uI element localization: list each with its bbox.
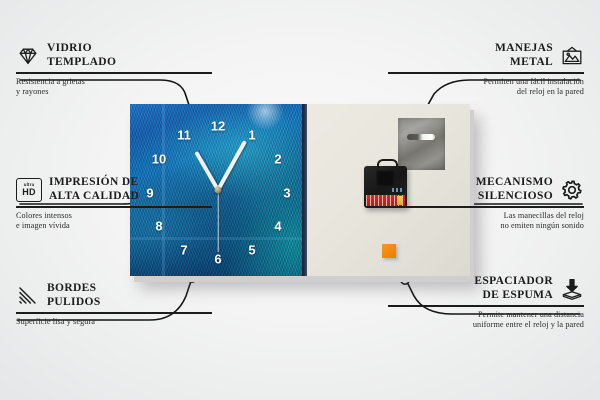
feature-foam-spacer: ESPACIADOR DE ESPUMA Permite mantener un… bbox=[388, 275, 584, 331]
feature-divider bbox=[16, 206, 212, 207]
infographic-canvas: 12 1 2 3 4 5 6 7 8 9 10 11 bbox=[0, 0, 600, 400]
feature-description: Colores intensos e imagen vívida bbox=[16, 211, 212, 233]
feature-divider bbox=[16, 312, 212, 313]
feature-title-line2: ALTA CALIDAD bbox=[49, 190, 139, 204]
feature-title-line2: DE ESPUMA bbox=[474, 289, 553, 303]
polished-edges-icon bbox=[16, 284, 40, 308]
ultra-hd-badge-icon: ultra HD bbox=[16, 178, 42, 202]
feature-description: Las manecillas del reloj no emiten ningú… bbox=[388, 211, 584, 233]
feature-divider bbox=[388, 305, 584, 306]
feature-description: Superficie lisa y segura bbox=[16, 317, 212, 328]
glass-thickness-edge bbox=[302, 104, 307, 276]
clock-numeral-4: 4 bbox=[274, 220, 281, 233]
feature-title-line1: ESPACIADOR bbox=[474, 275, 553, 289]
feature-description: Permite mantener una distancia uniforme … bbox=[388, 310, 584, 332]
feature-description: Permiten una fácil instalación del reloj… bbox=[388, 77, 584, 99]
feature-title-line1: MECANISMO bbox=[476, 176, 553, 190]
feature-title-line2: TEMPLADO bbox=[47, 56, 116, 70]
clock-numeral-7: 7 bbox=[180, 244, 187, 257]
feature-divider bbox=[388, 72, 584, 73]
clock-numeral-2: 2 bbox=[274, 153, 281, 166]
feature-title-line1: VIDRIO bbox=[47, 42, 116, 56]
feature-title-line1: BORDES bbox=[47, 282, 101, 296]
metal-hanger-plate bbox=[398, 118, 445, 170]
clock-numeral-3: 3 bbox=[283, 187, 290, 200]
feature-silent-mechanism: MECANISMO SILENCIOSO Las manecillas del … bbox=[388, 176, 584, 232]
feature-polished-edges: BORDES PULIDOS Superficie lisa y segura bbox=[16, 282, 212, 327]
feature-description: Resistencia a grietas y rayones bbox=[16, 77, 212, 99]
clock-center-hub bbox=[215, 187, 222, 194]
foam-spacer-icon bbox=[560, 277, 584, 301]
diamond-icon bbox=[16, 44, 40, 68]
feature-metal-handles: MANEJAS METAL Permiten una fácil instala… bbox=[388, 42, 584, 98]
feature-hd-print: ultra HD IMPRESIÓN DE ALTA CALIDAD Color… bbox=[16, 176, 212, 232]
picture-frame-icon bbox=[560, 44, 584, 68]
feature-title-line2: SILENCIOSO bbox=[476, 190, 553, 204]
feature-title-line2: METAL bbox=[495, 56, 553, 70]
clock-second-hand bbox=[217, 190, 218, 252]
foam-spacer-square bbox=[382, 244, 396, 258]
clock-numeral-11: 11 bbox=[177, 129, 191, 142]
hanger-keyhole-slot bbox=[407, 134, 435, 140]
clock-numeral-5: 5 bbox=[248, 244, 255, 257]
feature-title-line1: MANEJAS bbox=[495, 42, 553, 56]
feature-tempered-glass: VIDRIO TEMPLADO Resistencia a grietas y … bbox=[16, 42, 212, 98]
feature-divider bbox=[388, 206, 584, 207]
clock-numeral-6: 6 bbox=[214, 253, 221, 266]
gear-icon bbox=[560, 178, 584, 202]
badge-hd-text: HD bbox=[22, 188, 35, 197]
clock-numeral-10: 10 bbox=[152, 153, 166, 166]
feature-title-line1: IMPRESIÓN DE bbox=[49, 176, 139, 190]
clock-numeral-12: 12 bbox=[211, 120, 225, 133]
feature-title-line2: PULIDOS bbox=[47, 296, 101, 310]
clock-numeral-1: 1 bbox=[248, 129, 255, 142]
feature-divider bbox=[16, 72, 212, 73]
